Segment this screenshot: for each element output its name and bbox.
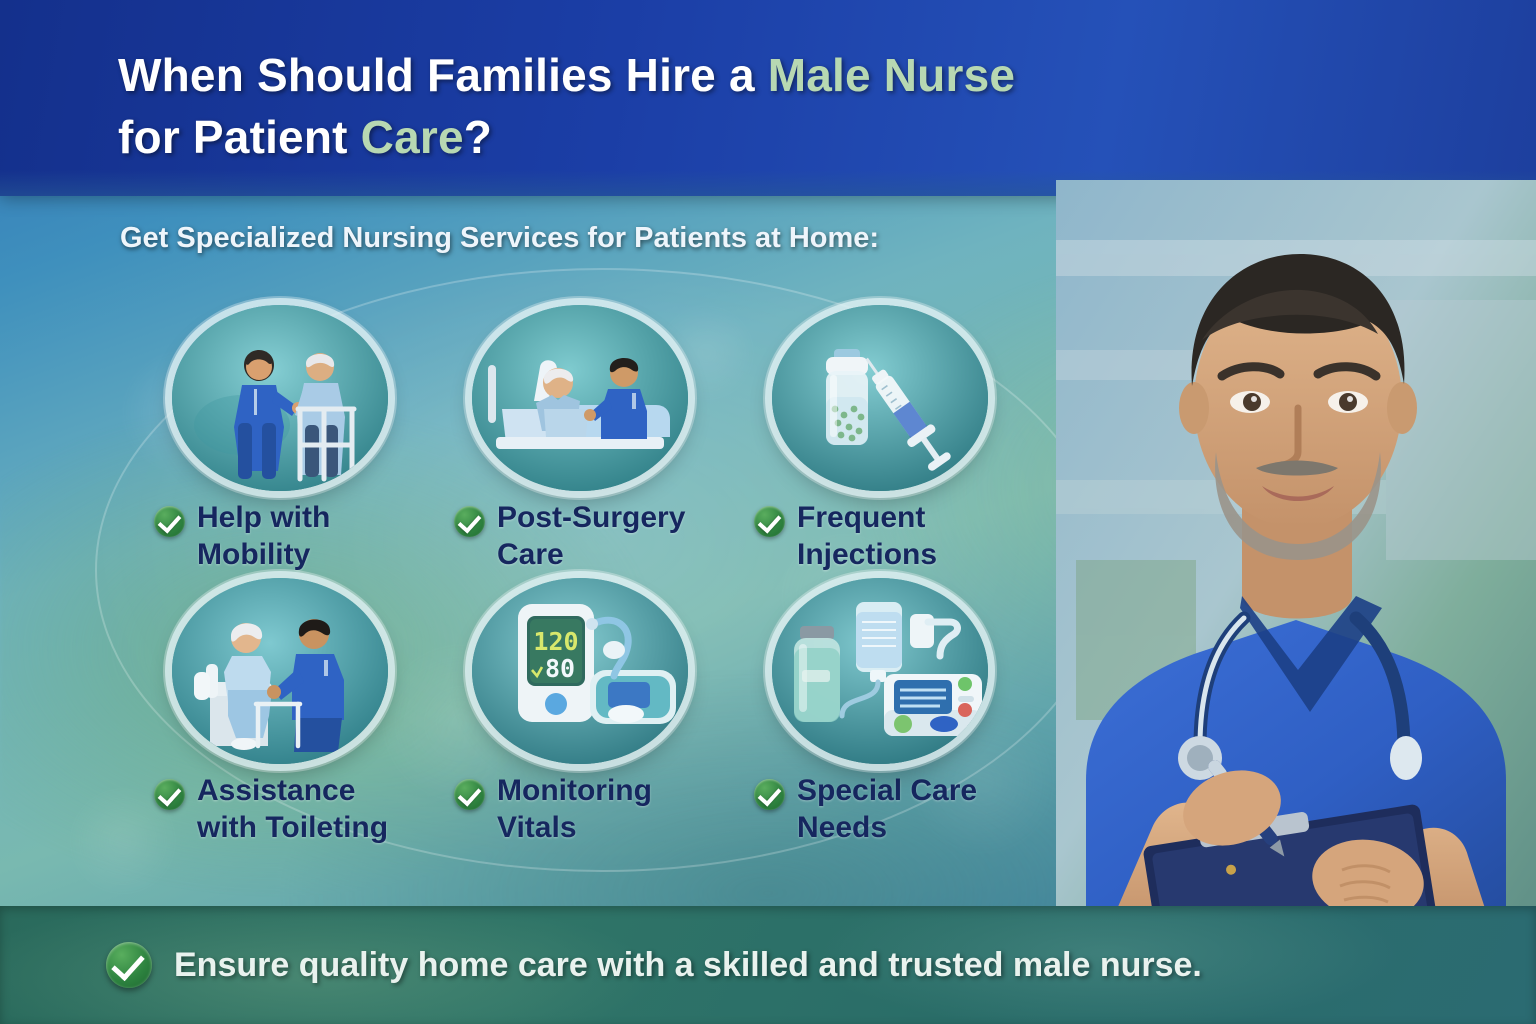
thumb-wrap (150, 300, 450, 495)
thumb-wrap (450, 300, 750, 495)
thumb-wrap: 120 80 (450, 573, 750, 768)
green-check-icon (754, 779, 785, 810)
service-label: Frequent Injections (797, 499, 1012, 573)
services-grid: Help with Mobility (150, 300, 1050, 846)
green-check-icon (154, 779, 185, 810)
service-label: Special Care Needs (797, 772, 1012, 846)
service-label-row: Frequent Injections (750, 499, 1050, 573)
service-item-help-with-mobility[interactable]: Help with Mobility (150, 300, 450, 573)
iv-drip-and-monitor-icon (772, 578, 988, 764)
service-label-row: Special Care Needs (750, 772, 1050, 846)
page-title: When Should Families Hire a Male Nurse f… (118, 44, 1418, 168)
service-item-frequent-injections[interactable]: Frequent Injections (750, 300, 1050, 573)
service-item-special-care-needs[interactable]: Special Care Needs (750, 573, 1050, 846)
service-label: Assistance with Toileting (197, 772, 412, 846)
footer-banner: Ensure quality home care with a skilled … (0, 906, 1536, 1024)
service-label-row: Monitoring Vitals (450, 772, 750, 846)
service-label: Monitoring Vitals (497, 772, 712, 846)
service-item-monitoring-vitals[interactable]: 120 80 (450, 573, 750, 846)
infographic-poster: When Should Families Hire a Male Nurse f… (0, 0, 1536, 1024)
title-line1-text: When Should Families Hire a (118, 49, 768, 101)
vitals-systolic-value: 120 (533, 627, 578, 656)
thumb-wrap (150, 573, 450, 768)
title-accent-care: Care (361, 111, 464, 163)
thumb-wrap (750, 573, 1050, 768)
service-label-row: Post-Surgery Care (450, 499, 750, 573)
title-line2-text: for Patient (118, 111, 361, 163)
green-check-icon (454, 779, 485, 810)
service-item-post-surgery-care[interactable]: Post-Surgery Care (450, 300, 750, 573)
service-label: Help with Mobility (197, 499, 412, 573)
service-label: Post-Surgery Care (497, 499, 712, 573)
vial-and-syringe-icon (772, 305, 988, 491)
vitals-monitor-icon: 120 80 (472, 578, 688, 764)
services-row-2: Assistance with Toileting (150, 573, 1050, 846)
title-accent-male-nurse: Male Nurse (768, 49, 1015, 101)
service-label-row: Assistance with Toileting (150, 772, 450, 846)
services-row-1: Help with Mobility (150, 300, 1050, 573)
green-check-icon (754, 506, 785, 537)
green-check-icon (454, 506, 485, 537)
service-label-row: Help with Mobility (150, 499, 450, 573)
male-nurse-photo (1056, 180, 1536, 930)
vitals-diastolic-value: 80 (545, 654, 575, 683)
thumb-wrap (750, 300, 1050, 495)
header-banner: When Should Families Hire a Male Nurse f… (0, 0, 1536, 196)
green-check-icon (154, 506, 185, 537)
title-question-mark: ? (464, 111, 492, 163)
footer-text: Ensure quality home care with a skilled … (174, 946, 1202, 985)
nurse-assisting-seated-patient-icon (172, 578, 388, 764)
service-item-assistance-with-toileting[interactable]: Assistance with Toileting (150, 573, 450, 846)
subtitle: Get Specialized Nursing Services for Pat… (120, 222, 879, 255)
nurse-assisting-walker-icon (172, 305, 388, 491)
patient-in-hospital-bed-icon (472, 305, 688, 491)
green-check-icon (106, 942, 152, 988)
